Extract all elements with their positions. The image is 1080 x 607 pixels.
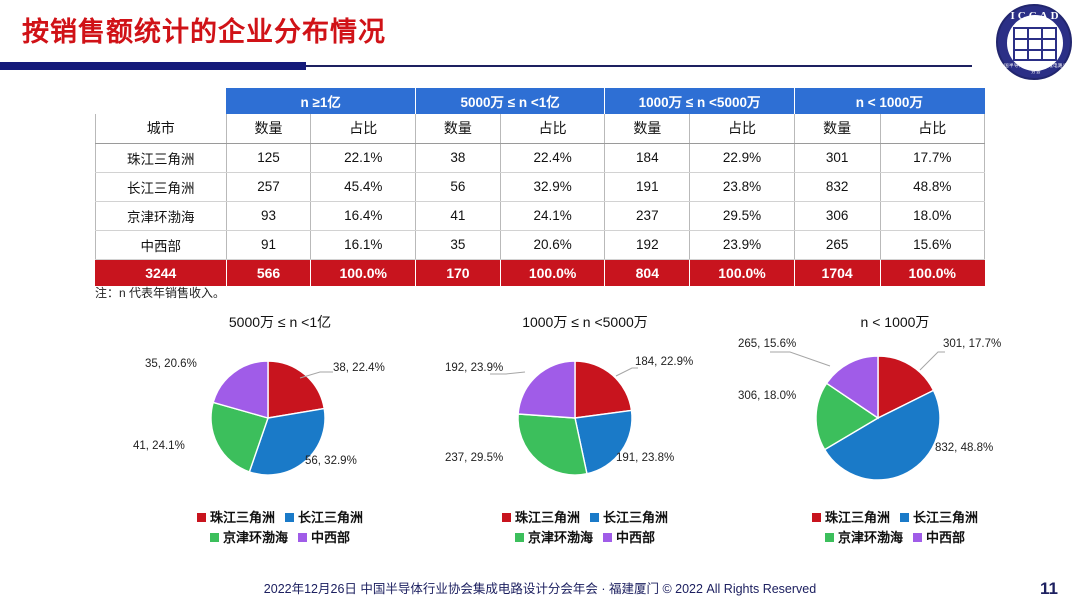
legend-swatch-icon (900, 513, 909, 522)
group-header-3: 1000万 ≤ n <5000万 (605, 88, 794, 114)
logo-subtext: 中国半导体行业协会集成电路设计分会 (998, 63, 1074, 75)
legend-swatch-icon (285, 513, 294, 522)
total-cell: 3244 (96, 259, 227, 286)
legend-label: 京津环渤海 (223, 530, 288, 545)
legend-label: 中西部 (926, 530, 965, 545)
sub-header-share-4: 占比 (880, 114, 985, 143)
legend-item: 京津环渤海 (515, 528, 593, 548)
pie-slice (518, 361, 575, 418)
group-header-blank (96, 88, 227, 114)
pie-label: 832, 48.8% (935, 442, 993, 455)
row-cell: 184 (605, 143, 690, 172)
pie-label: 35, 20.6% (145, 358, 197, 371)
table-row: 长江三角洲 257 45.4% 56 32.9% 191 23.8% 832 4… (96, 172, 985, 201)
row-cell: 306 (794, 201, 880, 230)
legend-label: 珠江三角洲 (515, 510, 580, 525)
row-cell: 23.8% (690, 172, 794, 201)
iccad-logo: ICCAD 中国半导体行业协会集成电路设计分会 (996, 4, 1072, 80)
row-cell: 16.4% (311, 201, 415, 230)
legend-item: 中西部 (913, 528, 965, 548)
row-cell: 24.1% (500, 201, 604, 230)
legend-item: 长江三角洲 (900, 508, 978, 528)
total-cell: 100.0% (690, 259, 794, 286)
row-cell: 832 (794, 172, 880, 201)
row-city: 京津环渤海 (96, 201, 227, 230)
pie-label: 306, 18.0% (738, 390, 796, 403)
legend-swatch-icon (825, 533, 834, 542)
legend-item: 中西部 (603, 528, 655, 548)
pie-legend-1: 珠江三角洲长江三角洲 京津环渤海中西部 (420, 508, 750, 548)
row-cell: 45.4% (311, 172, 415, 201)
legend-label: 中西部 (616, 530, 655, 545)
pie-slice (518, 414, 587, 475)
table-note: 注：n 代表年销售收入。 (95, 284, 225, 301)
total-cell: 100.0% (880, 259, 985, 286)
legend-swatch-icon (603, 533, 612, 542)
group-header-4: n < 1000万 (794, 88, 984, 114)
pie-label: 56, 32.9% (305, 455, 357, 468)
row-cell: 41 (415, 201, 500, 230)
sub-header-count-3: 数量 (605, 114, 690, 143)
row-cell: 38 (415, 143, 500, 172)
pie-label: 265, 15.6% (738, 338, 796, 351)
legend-item: 珠江三角洲 (502, 508, 580, 528)
pie-label: 192, 23.9% (445, 362, 503, 375)
legend-label: 京津环渤海 (838, 530, 903, 545)
chart-title: 5000万 ≤ n <1亿 (115, 312, 445, 332)
legend-label: 长江三角洲 (603, 510, 668, 525)
sub-header-count-1: 数量 (226, 114, 311, 143)
sub-header-count-2: 数量 (415, 114, 500, 143)
total-cell: 566 (226, 259, 311, 286)
chart-title: n < 1000万 (730, 312, 1060, 332)
table-row: 京津环渤海 93 16.4% 41 24.1% 237 29.5% 306 18… (96, 201, 985, 230)
table-total-row: 3244 566 100.0% 170 100.0% 804 100.0% 17… (96, 259, 985, 286)
logo-text: ICCAD (998, 10, 1074, 22)
row-cell: 16.1% (311, 230, 415, 259)
distribution-table: n ≥1亿 5000万 ≤ n <1亿 1000万 ≤ n <5000万 n <… (95, 88, 985, 286)
table-row: 珠江三角洲 125 22.1% 38 22.4% 184 22.9% 301 1… (96, 143, 985, 172)
pie-legend-2: 珠江三角洲长江三角洲 京津环渤海中西部 (730, 508, 1060, 548)
sub-header-share-1: 占比 (311, 114, 415, 143)
row-cell: 265 (794, 230, 880, 259)
row-cell: 191 (605, 172, 690, 201)
chart-title: 1000万 ≤ n <5000万 (420, 312, 750, 332)
row-cell: 192 (605, 230, 690, 259)
pie-legend-0: 珠江三角洲长江三角洲 京津环渤海中西部 (115, 508, 445, 548)
row-city: 中西部 (96, 230, 227, 259)
row-cell: 32.9% (500, 172, 604, 201)
legend-label: 长江三角洲 (913, 510, 978, 525)
legend-swatch-icon (515, 533, 524, 542)
leader-line (920, 352, 945, 370)
distribution-table-wrapper: n ≥1亿 5000万 ≤ n <1亿 1000万 ≤ n <5000万 n <… (95, 88, 985, 286)
pie-label: 191, 23.8% (616, 452, 674, 465)
page-number: 11 (1040, 579, 1058, 599)
pie-slice (575, 361, 631, 418)
row-cell: 20.6% (500, 230, 604, 259)
row-cell: 22.4% (500, 143, 604, 172)
pie-label: 301, 17.7% (943, 338, 1001, 351)
legend-swatch-icon (298, 533, 307, 542)
title-rule-thin (306, 65, 972, 67)
legend-swatch-icon (197, 513, 206, 522)
row-cell: 56 (415, 172, 500, 201)
total-cell: 1704 (794, 259, 880, 286)
row-cell: 22.1% (311, 143, 415, 172)
legend-item: 珠江三角洲 (197, 508, 275, 528)
legend-swatch-icon (502, 513, 511, 522)
total-cell: 100.0% (311, 259, 415, 286)
table-row: 中西部 91 16.1% 35 20.6% 192 23.9% 265 15.6… (96, 230, 985, 259)
row-cell: 17.7% (880, 143, 985, 172)
pie-svg-0 (115, 330, 445, 500)
sub-header-share-3: 占比 (690, 114, 794, 143)
legend-label: 京津环渤海 (528, 530, 593, 545)
legend-item: 长江三角洲 (285, 508, 363, 528)
table-group-header-row: n ≥1亿 5000万 ≤ n <1亿 1000万 ≤ n <5000万 n <… (96, 88, 985, 114)
sub-header-count-4: 数量 (794, 114, 880, 143)
row-cell: 23.9% (690, 230, 794, 259)
legend-item: 京津环渤海 (210, 528, 288, 548)
row-cell: 18.0% (880, 201, 985, 230)
row-cell: 35 (415, 230, 500, 259)
legend-label: 珠江三角洲 (825, 510, 890, 525)
pie-svg-2 (730, 330, 1060, 500)
legend-item: 中西部 (298, 528, 350, 548)
row-cell: 15.6% (880, 230, 985, 259)
sub-header-share-2: 占比 (500, 114, 604, 143)
row-cell: 22.9% (690, 143, 794, 172)
legend-item: 京津环渤海 (825, 528, 903, 548)
legend-swatch-icon (913, 533, 922, 542)
row-cell: 257 (226, 172, 311, 201)
legend-swatch-icon (210, 533, 219, 542)
row-city: 珠江三角洲 (96, 143, 227, 172)
group-header-2: 5000万 ≤ n <1亿 (415, 88, 604, 114)
pie-label: 237, 29.5% (445, 452, 503, 465)
pie-label: 38, 22.4% (333, 362, 385, 375)
slide-footer: 2022年12月26日 中国半导体行业协会集成电路设计分会年会 · 福建厦门 ©… (0, 578, 1080, 597)
pie-svg-1 (420, 330, 750, 500)
row-cell: 301 (794, 143, 880, 172)
total-cell: 170 (415, 259, 500, 286)
sub-header-city: 城市 (96, 114, 227, 143)
row-cell: 125 (226, 143, 311, 172)
group-header-1: n ≥1亿 (226, 88, 415, 114)
legend-item: 长江三角洲 (590, 508, 668, 528)
title-rule-thick (0, 62, 306, 70)
leader-line (770, 352, 830, 366)
pie-label: 41, 24.1% (133, 440, 185, 453)
row-cell: 48.8% (880, 172, 985, 201)
row-cell: 93 (226, 201, 311, 230)
legend-label: 中西部 (311, 530, 350, 545)
row-cell: 237 (605, 201, 690, 230)
row-cell: 91 (226, 230, 311, 259)
total-cell: 100.0% (500, 259, 604, 286)
legend-item: 珠江三角洲 (812, 508, 890, 528)
row-cell: 29.5% (690, 201, 794, 230)
legend-swatch-icon (812, 513, 821, 522)
legend-swatch-icon (590, 513, 599, 522)
row-city: 长江三角洲 (96, 172, 227, 201)
table-sub-header-row: 城市 数量 占比 数量 占比 数量 占比 数量 占比 (96, 114, 985, 143)
legend-label: 珠江三角洲 (210, 510, 275, 525)
legend-label: 长江三角洲 (298, 510, 363, 525)
page-title: 按销售额统计的企业分布情况 (22, 10, 386, 49)
total-cell: 804 (605, 259, 690, 286)
logo-grid-icon (1013, 27, 1057, 61)
pie-label: 184, 22.9% (635, 356, 693, 369)
